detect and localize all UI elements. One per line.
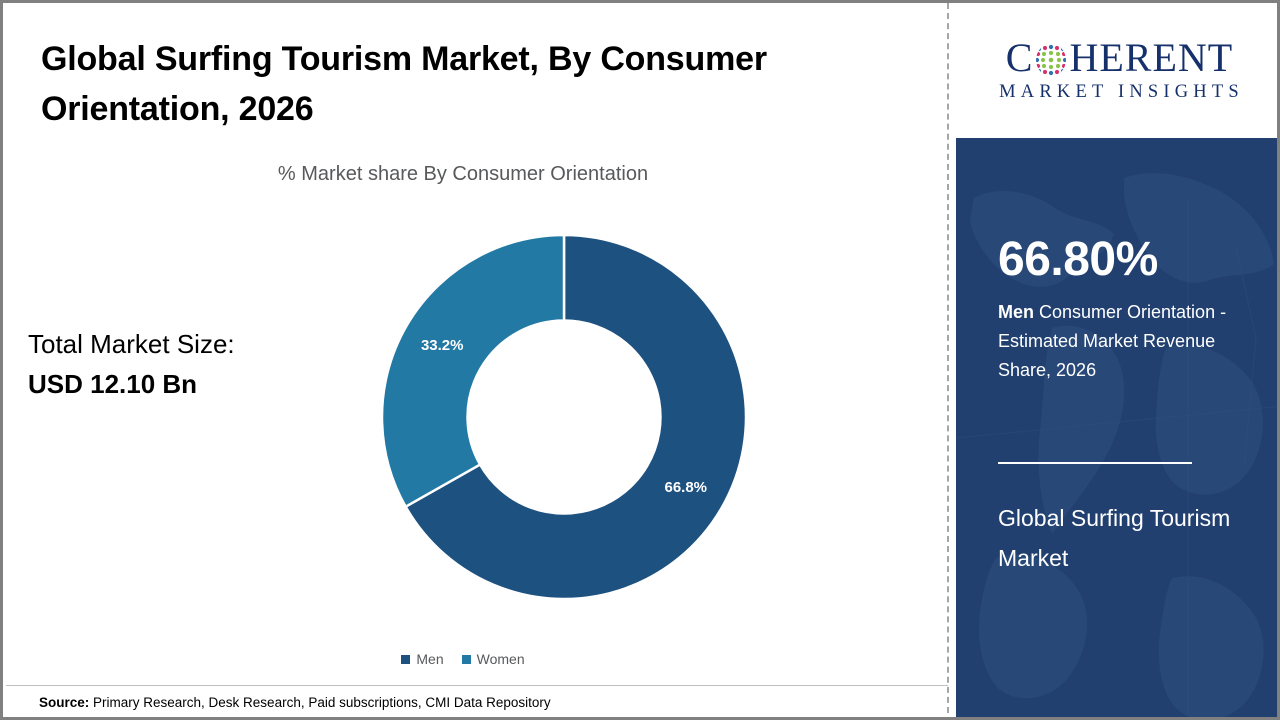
- stat-description-strong: Men: [998, 302, 1034, 322]
- stat-value: 66.80%: [998, 236, 1248, 284]
- brand-logo[interactable]: C: [956, 3, 1280, 138]
- donut-chart-svg: 33.2% 66.8%: [378, 231, 750, 603]
- stat-panel: 66.80% Men Consumer Orientation - Estima…: [956, 138, 1280, 720]
- legend-item-men[interactable]: Men: [401, 651, 443, 667]
- page-title: Global Surfing Tourism Market, By Consum…: [41, 34, 871, 135]
- legend-label-women: Women: [477, 651, 525, 667]
- infographic-root: Global Surfing Tourism Market, By Consum…: [0, 0, 1280, 720]
- chart-subtitle: % Market share By Consumer Orientation: [3, 163, 923, 186]
- logo-tagline: MARKET INSIGHTS: [975, 82, 1265, 103]
- main-content-area: Global Surfing Tourism Market, By Consum…: [3, 3, 948, 720]
- source-label: Source:: [39, 695, 89, 710]
- panel-market-name: Global Surfing Tourism Market: [998, 498, 1248, 579]
- total-market-size-label: Total Market Size:: [28, 325, 328, 365]
- donut-chart: 33.2% 66.8%: [378, 231, 750, 603]
- legend-item-women[interactable]: Women: [462, 651, 525, 667]
- chart-legend: MenWomen: [3, 651, 923, 667]
- logo-word-herent: HERENT: [1069, 38, 1233, 78]
- stat-description: Men Consumer Orientation - Estimated Mar…: [998, 298, 1238, 384]
- legend-swatch-women: [462, 655, 471, 664]
- logo-letter-c: C: [1006, 38, 1034, 78]
- logo-wordmark: C: [975, 38, 1265, 78]
- source-text: Primary Research, Desk Research, Paid su…: [89, 695, 550, 710]
- donut-label-women: 33.2%: [421, 337, 464, 354]
- right-panel: C: [956, 3, 1280, 720]
- source-divider: [6, 685, 948, 686]
- total-market-size-block: Total Market Size: USD 12.10 Bn: [28, 325, 328, 404]
- panel-divider: [998, 462, 1192, 464]
- legend-swatch-men: [401, 655, 410, 664]
- globe-icon: [1034, 43, 1068, 77]
- source-line: Source: Primary Research, Desk Research,…: [39, 695, 551, 710]
- legend-label-men: Men: [416, 651, 443, 667]
- donut-label-men: 66.8%: [664, 479, 707, 496]
- vertical-dashed-divider: [947, 3, 949, 720]
- stat-panel-content: 66.80% Men Consumer Orientation - Estima…: [998, 138, 1248, 384]
- donut-slice-women[interactable]: [382, 235, 564, 507]
- total-market-size-value: USD 12.10 Bn: [28, 365, 328, 405]
